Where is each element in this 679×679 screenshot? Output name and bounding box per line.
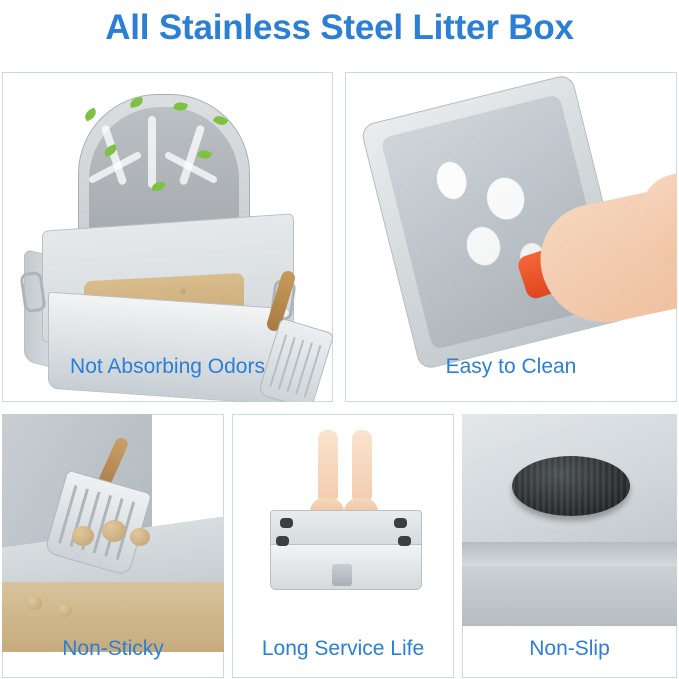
box-lower-face xyxy=(462,566,677,626)
box-front-wall xyxy=(48,292,290,402)
non-slip-foot xyxy=(276,536,289,546)
panel-caption: Not Absorbing Odors xyxy=(2,355,333,379)
panel-non-sticky: Non-Sticky xyxy=(2,414,224,678)
non-slip-pad xyxy=(512,456,630,516)
leg-left xyxy=(318,430,338,504)
litter-clump xyxy=(58,604,72,617)
scene-litter-box-hood xyxy=(2,72,333,402)
panel-easy-to-clean: Easy to Clean xyxy=(345,72,677,402)
box-edge xyxy=(462,542,677,568)
litter-clump xyxy=(130,528,150,546)
litter-clump xyxy=(72,526,94,546)
panel-caption: Non-Sticky xyxy=(2,637,224,661)
panel-caption: Long Service Life xyxy=(232,637,454,661)
airflow-arrow xyxy=(148,116,156,188)
non-slip-foot xyxy=(398,536,411,546)
panel-not-absorbing-odors: Not Absorbing Odors xyxy=(2,72,333,402)
panel-non-slip: Non-Slip xyxy=(462,414,677,678)
product-feature-collage: All Stainless Steel Litter Box xyxy=(0,0,679,679)
panel-caption: Non-Slip xyxy=(462,637,677,661)
page-title: All Stainless Steel Litter Box xyxy=(0,8,679,48)
panel-long-service-life: Long Service Life xyxy=(232,414,454,678)
scoop-slots xyxy=(58,485,138,561)
litter-clump xyxy=(26,596,42,610)
non-slip-foot xyxy=(280,518,293,528)
litter-clump xyxy=(102,520,126,542)
odor-leaf-icon xyxy=(83,107,99,121)
panel-caption: Easy to Clean xyxy=(345,355,677,379)
non-slip-foot xyxy=(394,518,407,528)
hood-shape xyxy=(78,94,250,231)
leg-right xyxy=(352,430,372,504)
box-center-latch xyxy=(332,564,352,586)
scene-cleaning-tray xyxy=(345,72,677,402)
